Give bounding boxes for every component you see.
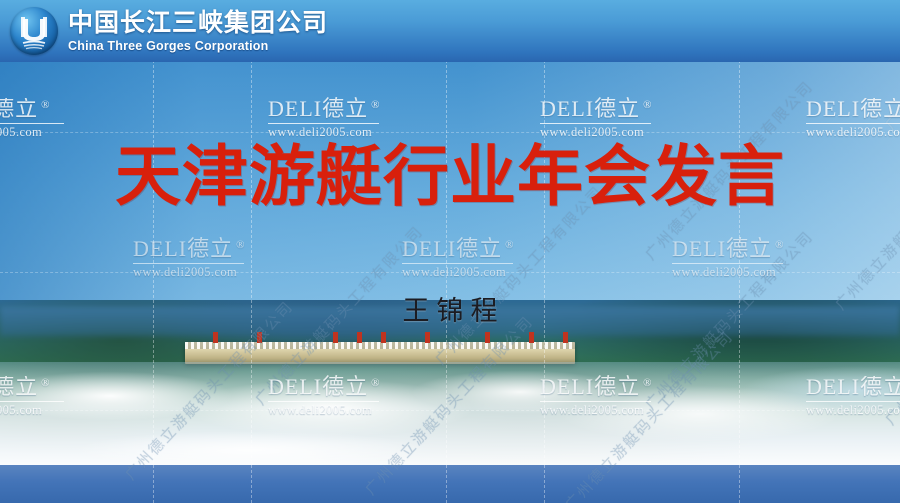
company-name-block: 中国长江三峡集团公司 China Three Gorges Corporatio… (68, 10, 328, 53)
bottom-color-band (0, 465, 900, 503)
header-content: 中国长江三峡集团公司 China Three Gorges Corporatio… (10, 0, 328, 62)
three-gorges-logo-icon (10, 7, 58, 55)
cloud-layer (0, 362, 900, 465)
header-band: 中国长江三峡集团公司 China Three Gorges Corporatio… (0, 0, 900, 62)
company-name-cn: 中国长江三峡集团公司 (68, 10, 328, 35)
dam-crane-towers (185, 332, 575, 344)
dam-structure (185, 342, 575, 364)
page-title: 天津游艇行业年会发言 (0, 143, 900, 210)
presentation-slide: 广州德立游艇码头工程有限公司 广州德立游艇码头工程有限公司 广州德立游艇码头工程… (0, 0, 900, 503)
author-name: 王锦程 (0, 289, 900, 328)
company-name-en: China Three Gorges Corporation (68, 40, 328, 53)
